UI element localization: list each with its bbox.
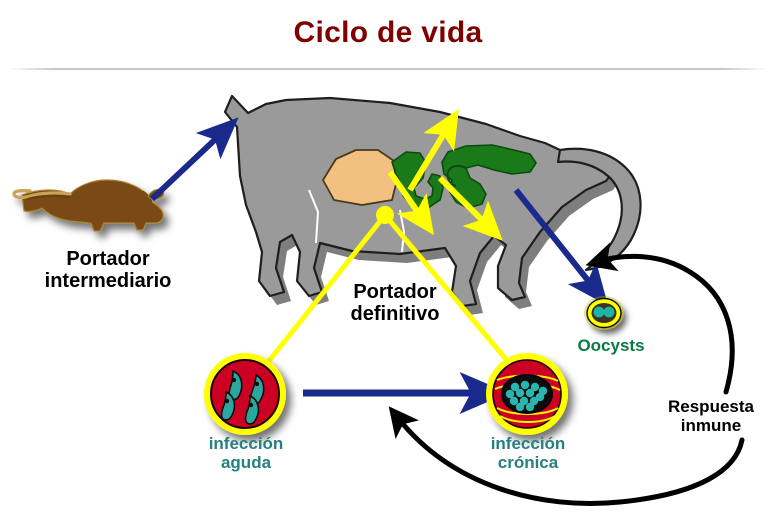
acute-infection-icon: [204, 353, 286, 435]
life-cycle-diagram: Ciclo de vida: [0, 0, 776, 515]
mouse-silhouette: [14, 180, 164, 231]
label-oocysts: Oocysts: [556, 336, 666, 355]
label-immune-response: Respuesta inmune: [648, 397, 774, 435]
label-acute-infection: infección aguda: [178, 434, 314, 472]
arrow-immune-to-oocysts: [600, 256, 732, 392]
chronic-infection-icon: [486, 353, 568, 435]
oocyst-icon: [584, 296, 624, 330]
arrow-mouse-to-cat: [152, 133, 222, 199]
label-chronic-infection: infección crónica: [460, 434, 596, 472]
label-intermediate-host: Portador intermediario: [8, 248, 208, 293]
label-definitive-host: Portador definitivo: [300, 281, 490, 326]
host-vertex-dot: [376, 206, 394, 224]
